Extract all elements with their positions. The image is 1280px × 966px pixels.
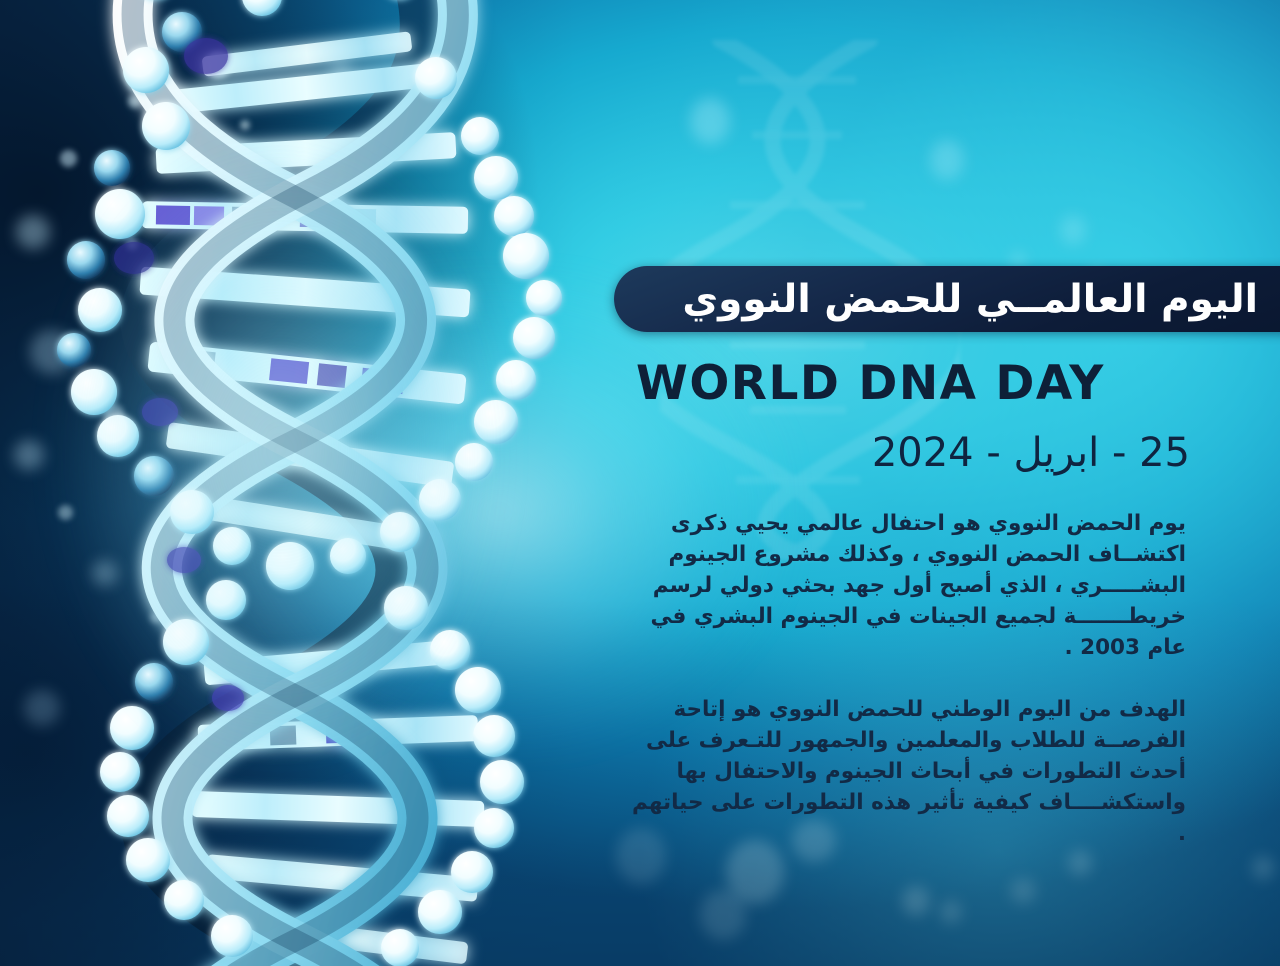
body-paragraph-1-text: يوم الحمض النووي هو احتفال عالمي يحيي ذك… [621, 508, 1186, 663]
dna-double-helix-illustration [0, 0, 630, 966]
page-title-english: WORLD DNA DAY [636, 356, 1105, 411]
poster-text-content: اليوم العالمــي للحمض النووي WORLD DNA D… [600, 0, 1280, 966]
event-date: 25 - ابريل - 2024 [872, 430, 1190, 476]
body-paragraph-2: الهدف من اليوم الوطني للحمض النووي هو إت… [621, 694, 1186, 849]
body-paragraph-2-text: الهدف من اليوم الوطني للحمض النووي هو إت… [621, 694, 1186, 849]
arabic-title-banner: اليوم العالمــي للحمض النووي [614, 266, 1280, 332]
helix-backlight-glow [60, 140, 500, 760]
body-paragraph-1: يوم الحمض النووي هو احتفال عالمي يحيي ذك… [621, 508, 1186, 663]
page-title-arabic: اليوم العالمــي للحمض النووي [682, 280, 1258, 319]
poster-canvas: اليوم العالمــي للحمض النووي WORLD DNA D… [0, 0, 1280, 966]
